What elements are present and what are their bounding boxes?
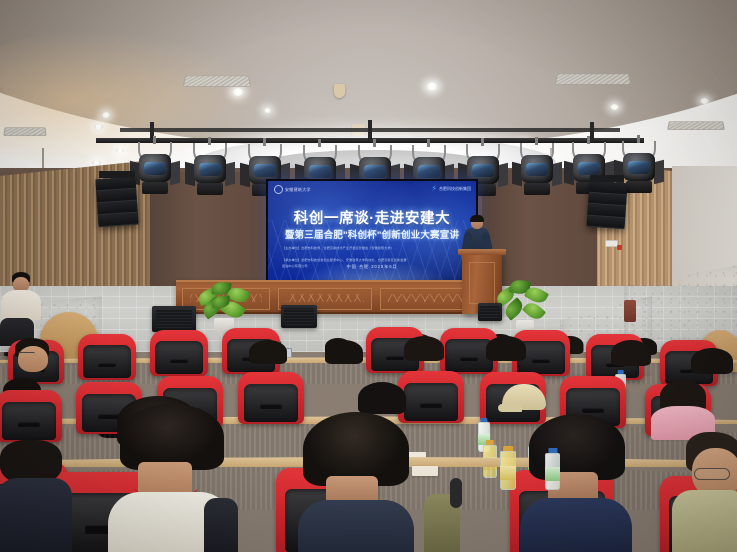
left-line-array-speaker (95, 177, 138, 228)
screen-organizer-line-1: 【主办单位】合肥市科技局、合肥高新技术产业开发区管委会（安徽建筑大学） (282, 245, 394, 250)
spotlight-base (626, 181, 652, 193)
ceiling-air-vent (667, 121, 725, 130)
downlight (426, 82, 438, 91)
spotlight-lens (526, 163, 548, 176)
person-leg (204, 498, 238, 552)
spotlight-lens (309, 165, 331, 178)
person-shirt (672, 490, 737, 552)
seat-handle-slot (532, 359, 551, 364)
stage-plant-right (496, 278, 554, 336)
balustrade-diamond-motif (286, 294, 364, 302)
person-hair (691, 348, 733, 374)
spotlight-barndoor (225, 162, 235, 186)
person-hair (249, 340, 287, 364)
auditorium-seat[interactable] (0, 390, 62, 442)
ceiling-air-vent (555, 74, 632, 85)
downlight (116, 148, 124, 153)
person-shirt (520, 498, 632, 552)
downlight (264, 108, 271, 113)
audience-person-navy (520, 414, 634, 552)
monitor-grille (156, 310, 193, 329)
spotlight-lens (364, 165, 386, 178)
auditorium-scene: 安徽建筑大学 ⚡ 合肥科技创新集团 科创一席谈·走进安建大 暨第三届合肥"科创杯… (0, 0, 737, 552)
audience-person-pink (650, 380, 716, 438)
bag-strap (450, 478, 462, 508)
auditorium-seat[interactable] (238, 372, 304, 424)
audience-person-left-front (0, 440, 74, 552)
person-hair (404, 336, 444, 361)
seat-black-back (155, 341, 203, 374)
stage-plant-left (196, 282, 256, 334)
sponsor-logo: ⚡ 合肥科技创新集团 (431, 185, 471, 193)
monitor-grille (480, 306, 500, 319)
seat-handle-slot (18, 422, 39, 427)
seat-handle-slot (260, 404, 281, 409)
seat-handle-slot (420, 403, 441, 408)
person-shoulders (1, 290, 41, 320)
presenter-hair (470, 215, 484, 222)
spotlight-base (197, 183, 223, 195)
spotlight-barndoor (552, 162, 562, 186)
university-emblem-icon (274, 185, 283, 194)
led-screen-frame: 安徽建筑大学 ⚡ 合肥科技创新集团 科创一席谈·走进安建大 暨第三届合肥"科创杯… (266, 179, 478, 290)
ceiling-drop-rod (42, 148, 44, 168)
spotlight-lens (254, 164, 276, 177)
right-line-array-speaker (586, 181, 627, 230)
audience-person-center-front (296, 412, 416, 552)
seat-handle-slot (582, 408, 603, 413)
monitor-grille (284, 308, 314, 325)
seat-black-back (2, 402, 56, 439)
led-screen[interactable]: 安徽建筑大学 ⚡ 合肥科技创新集团 科创一席谈·走进安建大 暨第三届合肥"科创杯… (268, 181, 476, 288)
right-speaker-mount (590, 175, 624, 182)
screen-place-date: 中国·合肥 2025年6月 (268, 264, 476, 270)
stage-monitor-speaker (152, 306, 196, 332)
spotlight-lens (199, 163, 221, 176)
truss-drop-rod (368, 120, 372, 140)
podium-top-surface (458, 249, 506, 255)
university-logo: 安徽建筑大学 (274, 185, 311, 194)
seat-black-back (244, 384, 298, 421)
emergency-button[interactable] (617, 245, 622, 250)
ceiling-air-vent (183, 76, 251, 87)
person-hair (325, 340, 363, 364)
downlight (94, 124, 103, 130)
downlight (700, 98, 709, 104)
spotlight-lens (418, 165, 440, 178)
person-hair (611, 340, 651, 366)
screen-subtitle: 暨第三届合肥"科创杯"创新创业大赛宣讲 (268, 227, 476, 241)
spotlight-barndoor (170, 161, 180, 185)
stage-monitor-speaker (478, 303, 502, 321)
seat-handle-slot (170, 359, 189, 364)
eyeglasses-icon (18, 352, 35, 356)
paper-notebook[interactable] (412, 466, 438, 476)
podium-front-panel (469, 262, 495, 304)
truss-drop-rod (590, 122, 594, 140)
downlight (102, 112, 110, 118)
audience-person-right-glasses (672, 432, 737, 552)
downlight (232, 88, 244, 96)
bottle-label (545, 467, 560, 480)
bottle-label (500, 466, 516, 480)
person-hair (120, 404, 224, 470)
spotlight-lens (144, 162, 166, 175)
seat-handle-slot (460, 357, 479, 362)
downlight (610, 104, 619, 110)
person-shirt (0, 478, 72, 552)
auditorium-seat[interactable] (150, 330, 208, 376)
person-hair (529, 414, 625, 480)
spotlight-lens (628, 161, 650, 174)
ceiling-air-vent (3, 127, 46, 136)
spotlight-base (142, 182, 168, 194)
spotlight-barndoor (498, 163, 508, 187)
lightning-bolt-icon: ⚡ (431, 185, 437, 193)
seat-black-back (83, 345, 131, 378)
person-shirt (298, 500, 414, 552)
university-logo-text: 安徽建筑大学 (285, 187, 311, 193)
eyeglasses-icon (694, 468, 730, 480)
stage-monitor-speaker (281, 305, 317, 328)
spotlight-lens (472, 164, 494, 177)
tea-bottle[interactable] (500, 446, 516, 490)
person-hair (486, 336, 526, 361)
audience-person (322, 340, 366, 386)
screen-title: 科创一席谈·走进安建大 (268, 207, 476, 228)
balustrade-diamond-motif (388, 294, 462, 302)
person-hair (358, 382, 406, 414)
cap-brim (498, 404, 522, 412)
ceiling-sprinkler (334, 84, 345, 98)
water-bottle[interactable] (545, 448, 560, 490)
person-head (18, 346, 48, 372)
screen-organizer-line-2: 【承办单位】合肥市科技创新创业服务中心、安徽建筑大学科技处、合肥高新区创新发展 (282, 257, 407, 262)
spotlight-base (524, 183, 550, 195)
sponsor-logo-text: 合肥科技创新集团 (439, 186, 471, 192)
person-hair (303, 412, 409, 486)
auditorium-seat[interactable] (78, 334, 136, 380)
side-chair (624, 300, 636, 322)
seat-handle-slot (98, 363, 117, 368)
spotlight-lens (578, 162, 600, 175)
spotlight-barndoor (654, 160, 664, 184)
left-speaker-mount (99, 171, 135, 178)
